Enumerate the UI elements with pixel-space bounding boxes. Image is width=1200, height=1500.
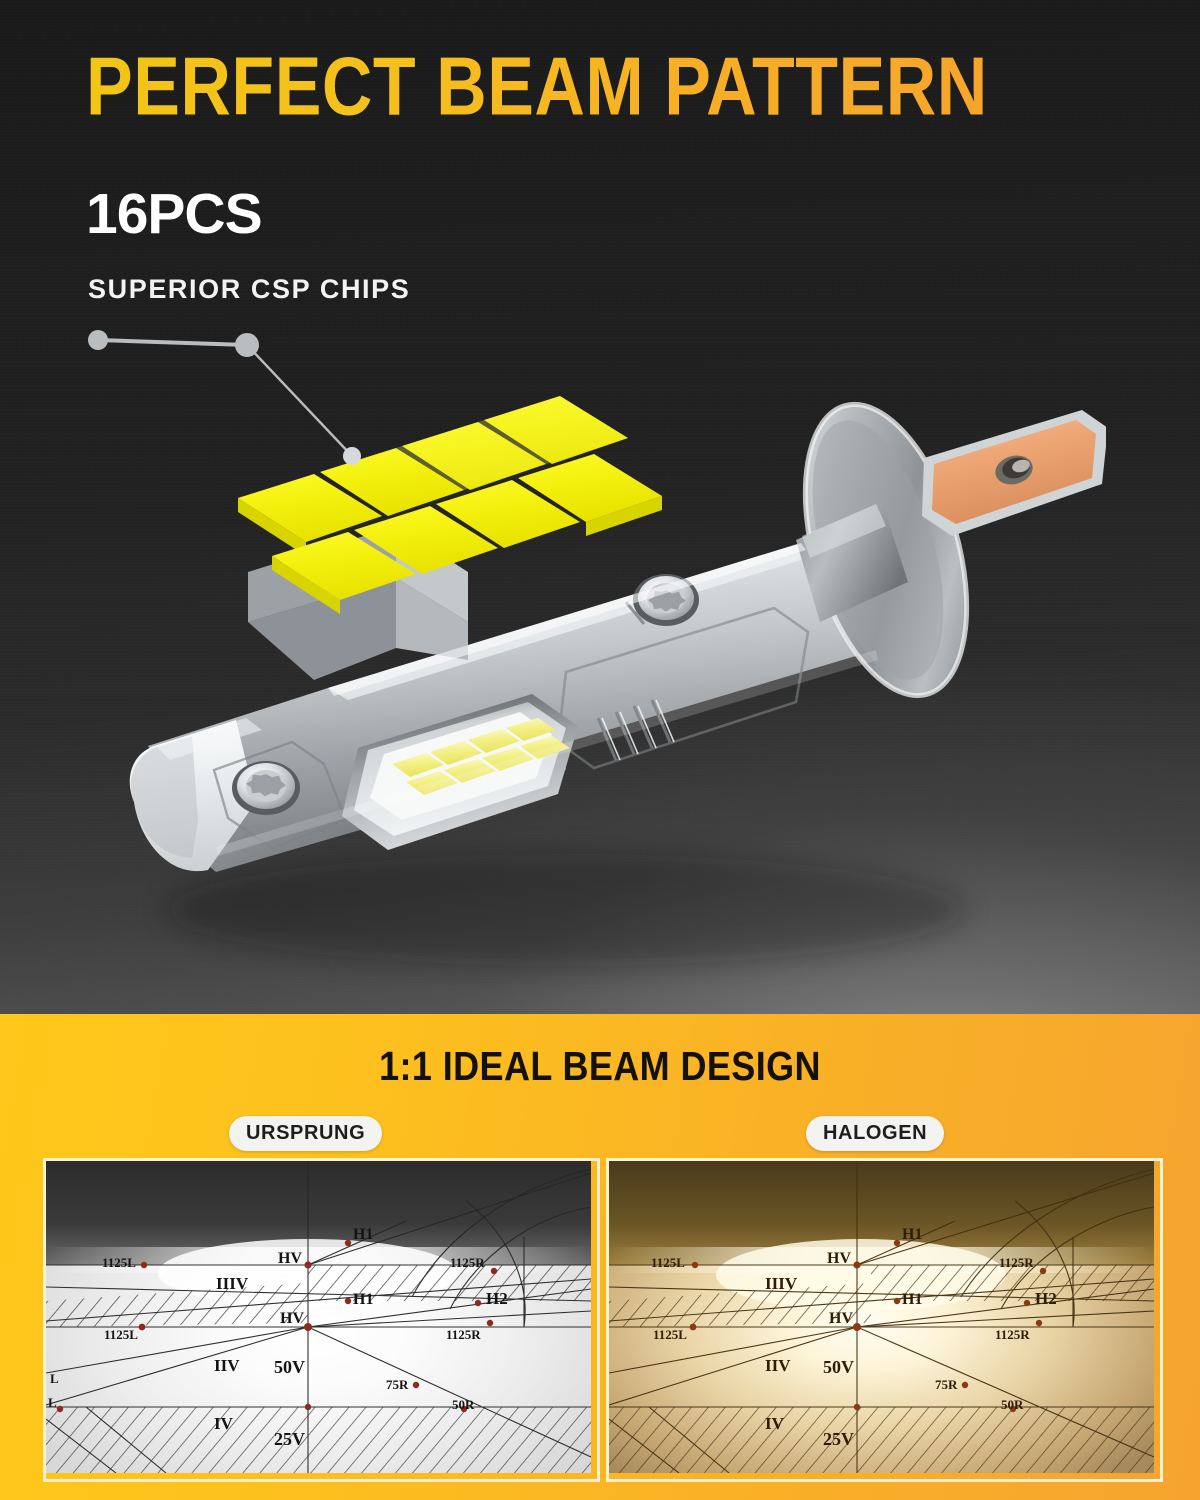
svg-text:1125L: 1125L <box>102 1255 136 1270</box>
copper-terminal-tab <box>922 410 1106 536</box>
bulb-svg <box>96 350 1106 990</box>
svg-text:H1: H1 <box>353 1226 373 1243</box>
bulb-drop-shadow <box>166 854 966 966</box>
beam-diagram-ursprung: 1125L HV H1 1125R IIIV H1 H2 1125L HV 11… <box>46 1161 591 1473</box>
svg-text:HV: HV <box>829 1310 853 1327</box>
led-bulb-product-image <box>96 350 1106 990</box>
svg-text:IV: IV <box>765 1414 785 1433</box>
svg-text:H2: H2 <box>486 1289 508 1308</box>
svg-text:25V: 25V <box>274 1429 305 1449</box>
beam-panel-ursprung: 1125L HV H1 1125R IIIV H1 H2 1125L HV 11… <box>43 1158 600 1482</box>
svg-text:HV: HV <box>278 1250 302 1267</box>
chip-subtitle: SUPERIOR CSP CHIPS <box>88 276 410 303</box>
svg-text:HV: HV <box>827 1250 851 1267</box>
beam-comparison-section: 1:1 IDEAL BEAM DESIGN URSPRUNG HALOGEN <box>0 1014 1200 1500</box>
svg-text:H1: H1 <box>902 1291 922 1308</box>
svg-text:IIV: IIV <box>765 1356 791 1375</box>
svg-text:IIIV: IIIV <box>765 1274 798 1293</box>
svg-text:1125L: 1125L <box>653 1327 687 1342</box>
svg-text:1125L: 1125L <box>104 1327 138 1342</box>
page-title: PERFECT BEAM PATTERN <box>86 45 988 128</box>
panel-label-ursprung: URSPRUNG <box>229 1116 382 1151</box>
svg-text:1125R: 1125R <box>446 1327 481 1342</box>
svg-text:50V: 50V <box>274 1357 305 1377</box>
beam-diagram-halogen: 1125L HV H1 1125R IIIV H1 H2 1125L HV 11… <box>609 1161 1154 1473</box>
chip-count-label: 16PCS <box>86 186 262 243</box>
beam-panel-ursprung-inner: 1125L HV H1 1125R IIIV H1 H2 1125L HV 11… <box>46 1161 597 1479</box>
svg-text:50V: 50V <box>823 1357 854 1377</box>
svg-text:1125R: 1125R <box>999 1255 1034 1270</box>
svg-text:L: L <box>50 1371 59 1386</box>
svg-text:1125R: 1125R <box>995 1327 1030 1342</box>
beam-panel-halogen: 1125L HV H1 1125R IIIV H1 H2 1125L HV 11… <box>606 1158 1163 1482</box>
svg-text:H1: H1 <box>353 1291 373 1308</box>
svg-text:IV: IV <box>214 1414 234 1433</box>
svg-text:50R: 50R <box>452 1397 475 1412</box>
svg-text:IIV: IIV <box>214 1356 240 1375</box>
svg-text:H1: H1 <box>902 1226 922 1243</box>
svg-text:75R: 75R <box>935 1377 958 1392</box>
beam-section-title: 1:1 IDEAL BEAM DESIGN <box>0 1043 1200 1090</box>
hero-section: PERFECT BEAM PATTERN 16PCS SUPERIOR CSP … <box>0 0 1200 1014</box>
svg-text:IIIV: IIIV <box>216 1274 249 1293</box>
product-marketing-image: PERFECT BEAM PATTERN 16PCS SUPERIOR CSP … <box>0 0 1200 1500</box>
svg-text:50R: 50R <box>1001 1397 1024 1412</box>
svg-text:H2: H2 <box>1035 1289 1057 1308</box>
svg-text:HV: HV <box>280 1310 304 1327</box>
svg-text:L: L <box>48 1395 57 1410</box>
svg-text:1125L: 1125L <box>651 1255 685 1270</box>
torx-screw-left <box>232 761 300 815</box>
svg-text:25V: 25V <box>823 1429 854 1449</box>
svg-text:1125R: 1125R <box>450 1255 485 1270</box>
svg-text:75R: 75R <box>386 1377 409 1392</box>
panel-label-halogen: HALOGEN <box>806 1116 944 1151</box>
callout-dot-start <box>88 330 108 350</box>
beam-panel-halogen-inner: 1125L HV H1 1125R IIIV H1 H2 1125L HV 11… <box>609 1161 1160 1479</box>
